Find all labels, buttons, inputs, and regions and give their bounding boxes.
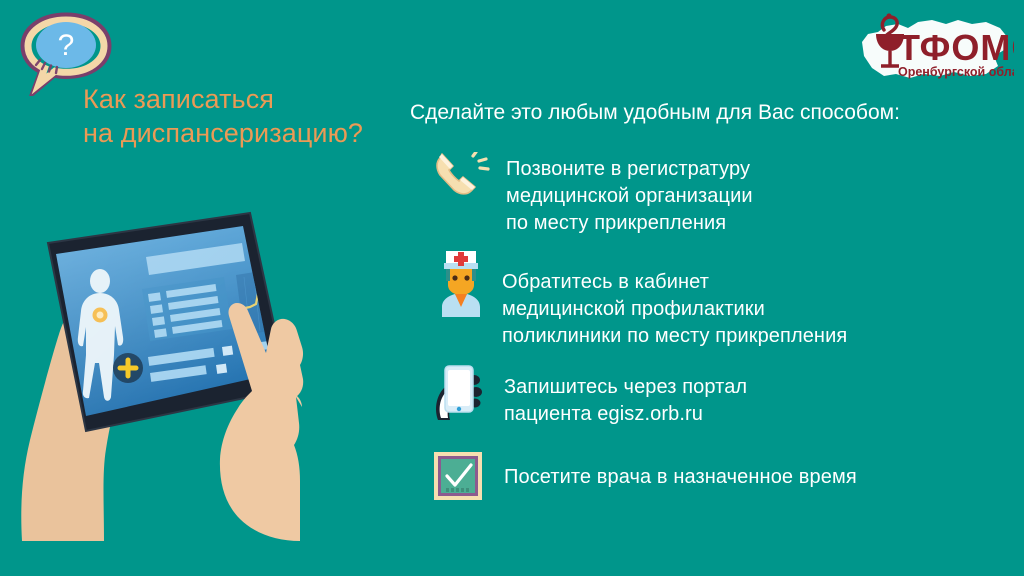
step-attend-appointment: Посетите врача в назначенное время <box>432 450 1024 502</box>
page-title: Как записаться на диспансеризацию? <box>83 82 363 150</box>
hands-holding-tablet-illustration <box>0 205 400 576</box>
bubble-question-glyph: ? <box>58 29 75 62</box>
slide-canvas: ? Как записаться на диспансеризацию? ТФО… <box>0 0 1024 576</box>
ring-lines <box>473 152 488 169</box>
hand-holding-smartphone-icon <box>432 362 488 422</box>
tfoms-logo: ТФОМС Оренбургской области <box>854 4 1014 86</box>
logo-subtitle: Оренбургской области <box>898 65 1014 79</box>
step-visit-prevention-office-text: Обратитесь в кабинет медицинской профила… <box>502 269 847 350</box>
telephone-handset-icon <box>432 152 494 200</box>
step-call-registry-text: Позвоните в регистратуру медицинской орг… <box>506 156 753 237</box>
checked-box-icon <box>432 450 484 502</box>
step-call-registry: Позвоните в регистратуру медицинской орг… <box>432 148 1024 237</box>
step-attend-appointment-text: Посетите врача в назначенное время <box>504 464 857 491</box>
step-online-portal-text: Запишитесь через портал пациента egisz.o… <box>504 374 747 428</box>
step-visit-prevention-office: Обратитесь в кабинет медицинской профила… <box>432 243 1024 350</box>
intro-text: Сделайте это любым удобным для Вас спосо… <box>410 100 900 126</box>
nurse-icon <box>432 245 490 317</box>
logo-title: ТФОМС <box>898 27 1014 68</box>
step-online-portal: Запишитесь через портал пациента egisz.o… <box>432 360 1024 428</box>
steps-list: Позвоните в регистратуру медицинской орг… <box>432 148 1024 502</box>
